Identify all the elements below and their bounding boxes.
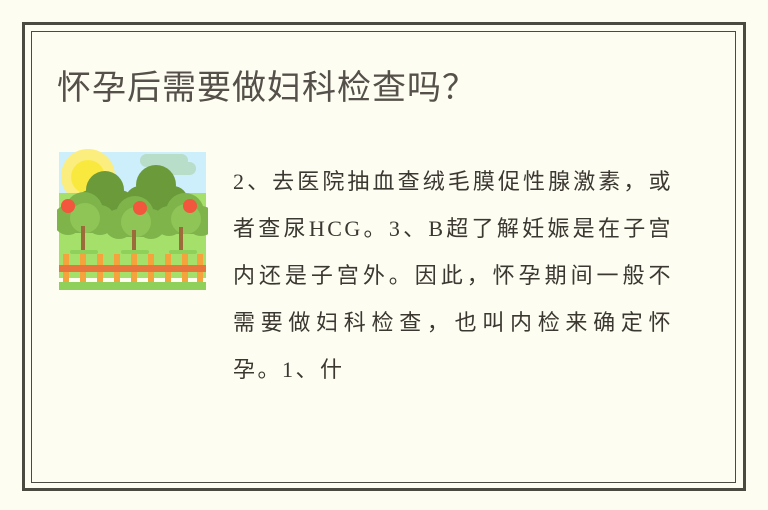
article-thumbnail — [57, 148, 208, 298]
article-body-text: 2、去医院抽血查绒毛膜促性腺激素，或者查尿HCG。3、B超了解妊娠是在子宫内还是… — [233, 158, 673, 393]
article-content: 2、去医院抽血查绒毛膜促性腺激素，或者查尿HCG。3、B超了解妊娠是在子宫内还是… — [57, 148, 677, 398]
page-title: 怀孕后需要做妇科检查吗？ — [57, 64, 477, 112]
orchard-illustration-icon — [57, 148, 208, 298]
article-page: 怀孕后需要做妇科检查吗？ — [0, 0, 768, 510]
